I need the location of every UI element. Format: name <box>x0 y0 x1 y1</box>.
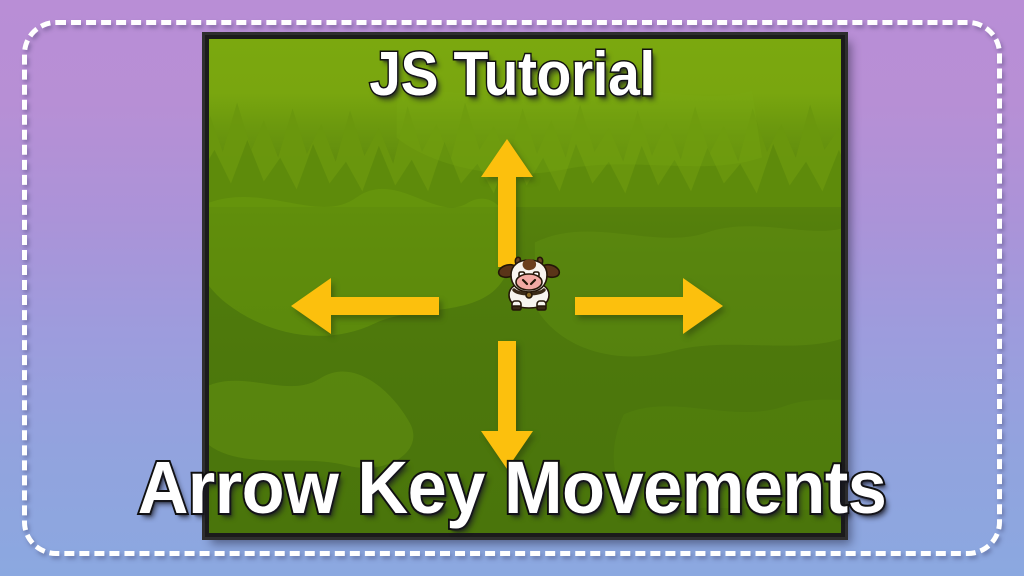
arrow-right-icon[interactable] <box>575 278 723 334</box>
thumbnail-stage: JS Tutorial Arrow Key Movements <box>0 0 1024 576</box>
arrow-left-icon[interactable] <box>291 278 439 334</box>
cow-icon[interactable] <box>497 251 561 315</box>
page-title: JS Tutorial <box>41 42 983 108</box>
arrow-up-icon[interactable] <box>481 139 533 267</box>
page-subtitle: Arrow Key Movements <box>26 448 999 528</box>
